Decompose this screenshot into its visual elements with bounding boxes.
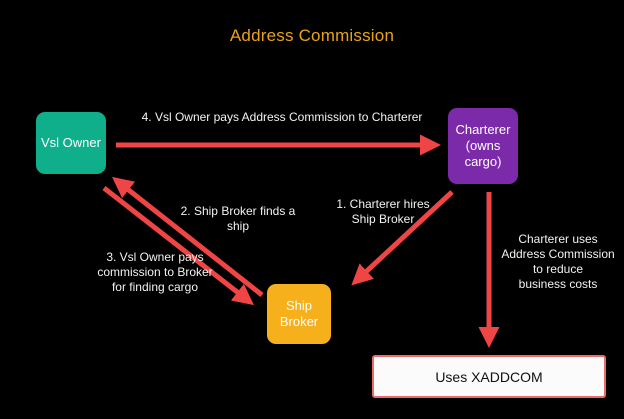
arrow-label-step1: 1. Charterer hires Ship Broker <box>322 197 444 227</box>
node-vsl-owner[interactable]: Vsl Owner <box>36 112 106 174</box>
note-charterer-uses-address-commission: Charterer uses Address Commission to red… <box>496 232 620 292</box>
node-charterer[interactable]: Charterer (owns cargo) <box>448 108 518 184</box>
arrow-label-step3: 3. Vsl Owner pays commission to Broker f… <box>62 250 248 295</box>
node-ship-broker[interactable]: Ship Broker <box>267 284 331 344</box>
node-uses-xaddcom[interactable]: Uses XADDCOM <box>372 355 606 398</box>
arrow-label-step2: 2. Ship Broker finds a ship <box>168 204 308 234</box>
diagram-canvas: Address Commission Vsl Owner Charterer (… <box>0 0 624 419</box>
arrow-label-step4: 4. Vsl Owner pays Address Commission to … <box>126 110 438 125</box>
